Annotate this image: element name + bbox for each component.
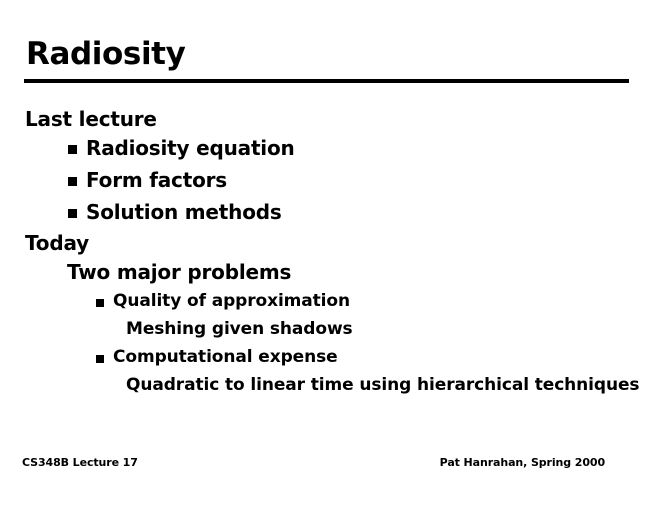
square-bullet-icon [96, 355, 104, 363]
outline-row-label: Last lecture [25, 107, 157, 131]
outline-row-label: Today [25, 231, 89, 255]
outline-row: Today [0, 229, 660, 257]
footer-author-label: Pat Hanrahan, Spring 2000 [440, 456, 605, 469]
outline-row-label: Quality of approximation [113, 291, 350, 311]
outline-row: Last lecture [0, 105, 660, 133]
footer-course-label: CS348B Lecture 17 [22, 456, 138, 469]
slide-footer: CS348B Lecture 17 Pat Hanrahan, Spring 2… [0, 456, 660, 476]
square-bullet-icon [68, 145, 77, 154]
outline-row-label: Meshing given shadows [126, 319, 353, 339]
presentation-slide: Radiosity Last lectureRadiosity equation… [0, 0, 660, 510]
outline-row: Computational expense [0, 345, 660, 373]
outline-row-label: Quadratic to linear time using hierarchi… [126, 375, 639, 395]
outline-row: Meshing given shadows [0, 317, 660, 345]
square-bullet-icon [68, 177, 77, 186]
square-bullet-icon [68, 209, 77, 218]
outline-row-label: Form factors [86, 168, 227, 192]
outline-row: Two major problems [0, 257, 660, 289]
outline-row-label: Computational expense [113, 347, 338, 367]
outline-row-label: Solution methods [86, 200, 282, 224]
outline-row-label: Two major problems [67, 260, 291, 284]
slide-title: Radiosity [26, 39, 185, 70]
slide-body-outline: Last lectureRadiosity equationForm facto… [0, 105, 660, 401]
square-bullet-icon [96, 299, 104, 307]
outline-row: Solution methods [0, 197, 660, 229]
outline-row: Quality of approximation [0, 289, 660, 317]
outline-row: Form factors [0, 165, 660, 197]
outline-row-label: Radiosity equation [86, 136, 295, 160]
outline-row: Radiosity equation [0, 133, 660, 165]
title-divider-rule [24, 79, 629, 83]
outline-row: Quadratic to linear time using hierarchi… [0, 373, 660, 401]
